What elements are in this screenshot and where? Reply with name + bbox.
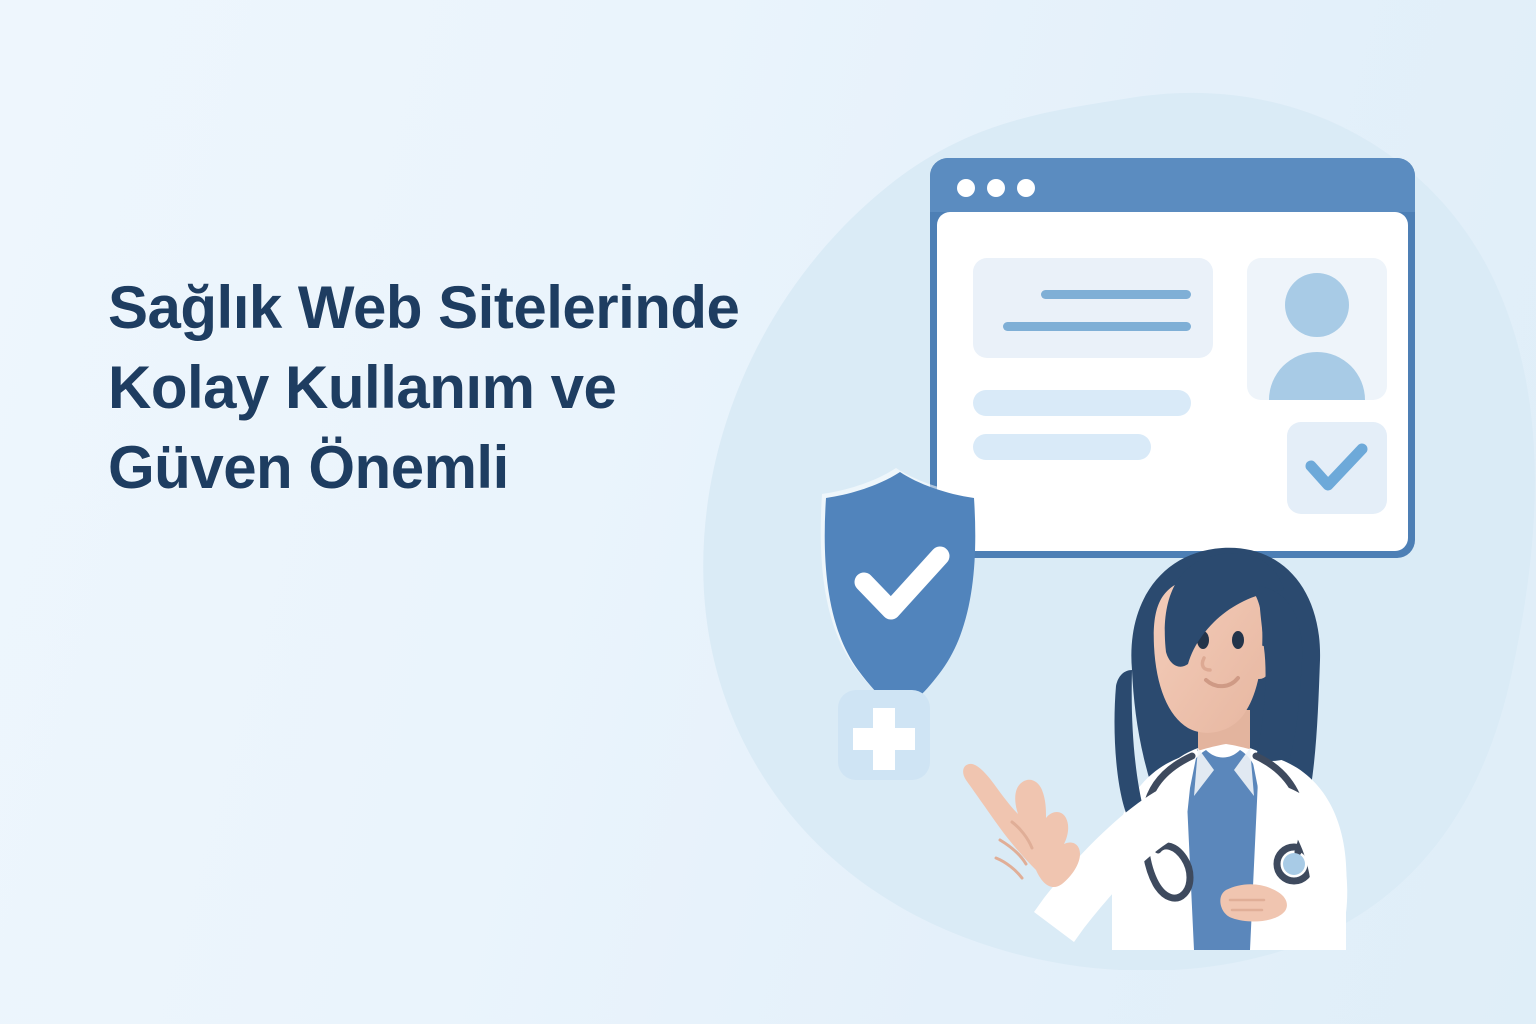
stethoscope-chestpiece [1283, 853, 1305, 875]
content-line [1041, 290, 1191, 299]
avatar-card [1247, 258, 1387, 400]
pointing-hand [963, 764, 1080, 887]
traffic-light-dot[interactable] [1017, 179, 1035, 197]
verified-check-card [1287, 422, 1387, 514]
traffic-light-dot[interactable] [957, 179, 975, 197]
healthcare-illustration [760, 150, 1500, 950]
window-traffic-lights[interactable] [957, 179, 1035, 197]
text-bar [973, 390, 1191, 416]
shield-check-icon [821, 468, 976, 714]
medical-cross-icon [838, 690, 930, 780]
eye-right [1232, 631, 1244, 649]
text-bar [973, 434, 1151, 460]
browser-window [930, 158, 1415, 558]
traffic-light-dot[interactable] [987, 179, 1005, 197]
female-doctor-character [963, 548, 1347, 950]
content-line [1003, 322, 1191, 331]
content-card [973, 258, 1213, 358]
banner: Sağlık Web Sitelerinde Kolay Kullanım ve… [0, 0, 1536, 1024]
